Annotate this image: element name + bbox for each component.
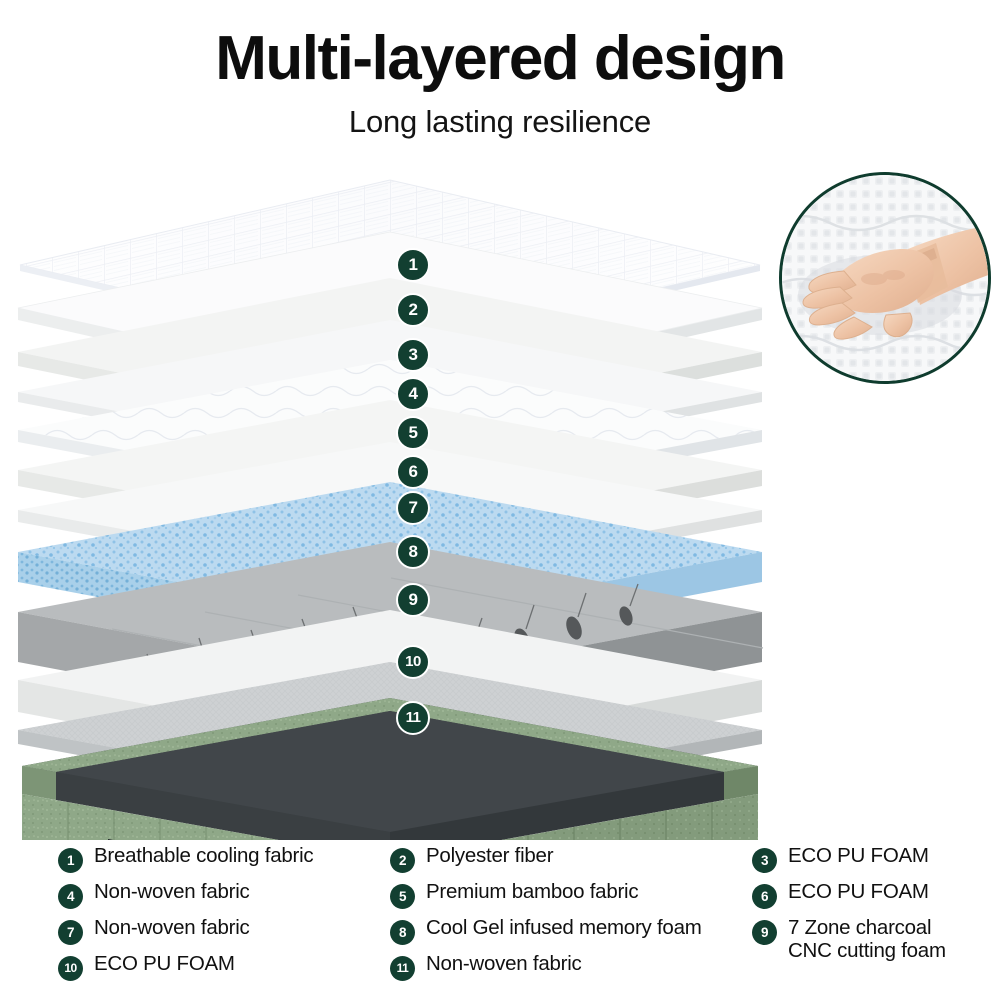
legend-badge-9: 9 — [752, 920, 777, 945]
product-infographic-page: Multi-layered design Long lasting resili… — [0, 0, 1000, 1000]
legend-column-1: 1 Breathable cooling fabric 4 Non-woven … — [58, 845, 388, 989]
legend-badge-8: 8 — [390, 920, 415, 945]
exploded-mattress-layer-diagram — [0, 160, 790, 840]
legend-badge-11: 11 — [390, 956, 415, 981]
layer-badge-1[interactable]: 1 — [396, 248, 430, 282]
legend-item-9[interactable]: 9 7 Zone charcoal CNC cutting foam — [752, 917, 992, 952]
page-subtitle: Long lasting resilience — [0, 90, 1000, 140]
legend-item-10[interactable]: 10 ECO PU FOAM — [58, 953, 388, 988]
legend-badge-6: 6 — [752, 884, 777, 909]
legend-label-9: 7 Zone charcoal CNC cutting foam — [788, 917, 992, 963]
layer-badge-7[interactable]: 7 — [396, 491, 430, 525]
layer-badge-4[interactable]: 4 — [396, 377, 430, 411]
layer-badge-10[interactable]: 10 — [396, 645, 430, 679]
layer-badge-8[interactable]: 8 — [396, 535, 430, 569]
legend-badge-1: 1 — [58, 848, 83, 873]
legend-column-3: 3 ECO PU FOAM 6 ECO PU FOAM 9 7 Zone cha… — [752, 845, 992, 953]
layer-badge-2[interactable]: 2 — [396, 293, 430, 327]
legend-item-7[interactable]: 7 Non-woven fabric — [58, 917, 388, 952]
legend-badge-5: 5 — [390, 884, 415, 909]
header: Multi-layered design Long lasting resili… — [0, 0, 1000, 140]
layer-badge-5[interactable]: 5 — [396, 416, 430, 450]
legend-item-6[interactable]: 6 ECO PU FOAM — [752, 881, 992, 916]
layer-badge-6[interactable]: 6 — [396, 455, 430, 489]
legend-badge-10: 10 — [58, 956, 83, 981]
page-title: Multi-layered design — [0, 0, 1000, 90]
legend-label-8: Cool Gel infused memory foam — [426, 917, 750, 940]
legend-label-10: ECO PU FOAM — [94, 953, 388, 976]
legend-column-2: 2 Polyester fiber 5 Premium bamboo fabri… — [390, 845, 750, 989]
legend-label-7: Non-woven fabric — [94, 917, 388, 940]
legend-label-2: Polyester fiber — [426, 845, 750, 868]
legend-label-6: ECO PU FOAM — [788, 881, 992, 904]
layer-badge-11[interactable]: 11 — [396, 701, 430, 735]
legend-item-2[interactable]: 2 Polyester fiber — [390, 845, 750, 880]
legend-item-11[interactable]: 11 Non-woven fabric — [390, 953, 750, 988]
legend-item-3[interactable]: 3 ECO PU FOAM — [752, 845, 992, 880]
layer-badge-3[interactable]: 3 — [396, 338, 430, 372]
legend-label-11: Non-woven fabric — [426, 953, 750, 976]
legend-label-5: Premium bamboo fabric — [426, 881, 750, 904]
layer-badge-9[interactable]: 9 — [396, 583, 430, 617]
hand-pressing-mattress-photo — [779, 172, 991, 384]
legend-label-4: Non-woven fabric — [94, 881, 388, 904]
legend-item-5[interactable]: 5 Premium bamboo fabric — [390, 881, 750, 916]
legend-item-4[interactable]: 4 Non-woven fabric — [58, 881, 388, 916]
legend-badge-7: 7 — [58, 920, 83, 945]
legend-item-1[interactable]: 1 Breathable cooling fabric — [58, 845, 388, 880]
legend-label-1: Breathable cooling fabric — [94, 845, 388, 868]
legend: 1 Breathable cooling fabric 4 Non-woven … — [0, 845, 1000, 1000]
legend-badge-4: 4 — [58, 884, 83, 909]
legend-item-8[interactable]: 8 Cool Gel infused memory foam — [390, 917, 750, 952]
legend-badge-3: 3 — [752, 848, 777, 873]
legend-label-3: ECO PU FOAM — [788, 845, 992, 868]
legend-badge-2: 2 — [390, 848, 415, 873]
